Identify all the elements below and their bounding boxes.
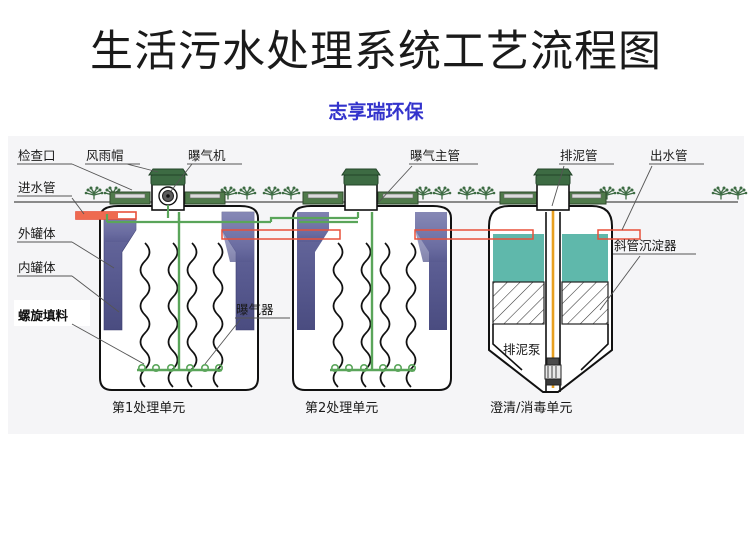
svg-text:螺旋填料: 螺旋填料	[18, 308, 69, 323]
diagram-page: 生活污水处理系统工艺流程图 志享瑞环保	[0, 0, 752, 557]
svg-text:斜管沉淀器: 斜管沉淀器	[614, 238, 677, 253]
label-weather-cap: 风雨帽	[85, 148, 158, 172]
svg-text:外罐体: 外罐体	[18, 226, 56, 241]
label-sludge-pump: 排泥泵	[503, 342, 541, 357]
label-inlet-pipe: 进水管	[17, 180, 84, 214]
svg-text:风雨帽: 风雨帽	[86, 148, 124, 163]
svg-text:出水管: 出水管	[650, 148, 688, 163]
svg-text:排泥管: 排泥管	[560, 148, 598, 163]
svg-text:进水管: 进水管	[18, 180, 56, 195]
svg-text:曝气器: 曝气器	[236, 302, 274, 317]
svg-text:内罐体: 内罐体	[18, 260, 56, 275]
label-tube-settler: 斜管沉淀器	[600, 238, 696, 310]
svg-text:排泥泵: 排泥泵	[503, 342, 541, 357]
svg-text:曝气机: 曝气机	[188, 148, 226, 163]
unit-1-caption: 第1处理单元	[112, 401, 185, 416]
label-outlet-pipe: 出水管	[622, 148, 704, 230]
svg-text:检查口: 检查口	[18, 148, 56, 163]
svg-text:曝气主管: 曝气主管	[410, 148, 460, 163]
process-flow-diagram: 检查口 风雨帽 曝气机 曝气主管 排泥管 出水管	[0, 0, 752, 557]
unit-2-caption: 第2处理单元	[305, 401, 378, 416]
unit-3-caption: 澄清/消毒单元	[490, 401, 572, 416]
sludge-pump	[545, 358, 561, 385]
unit-2-top-assembly	[303, 169, 418, 210]
